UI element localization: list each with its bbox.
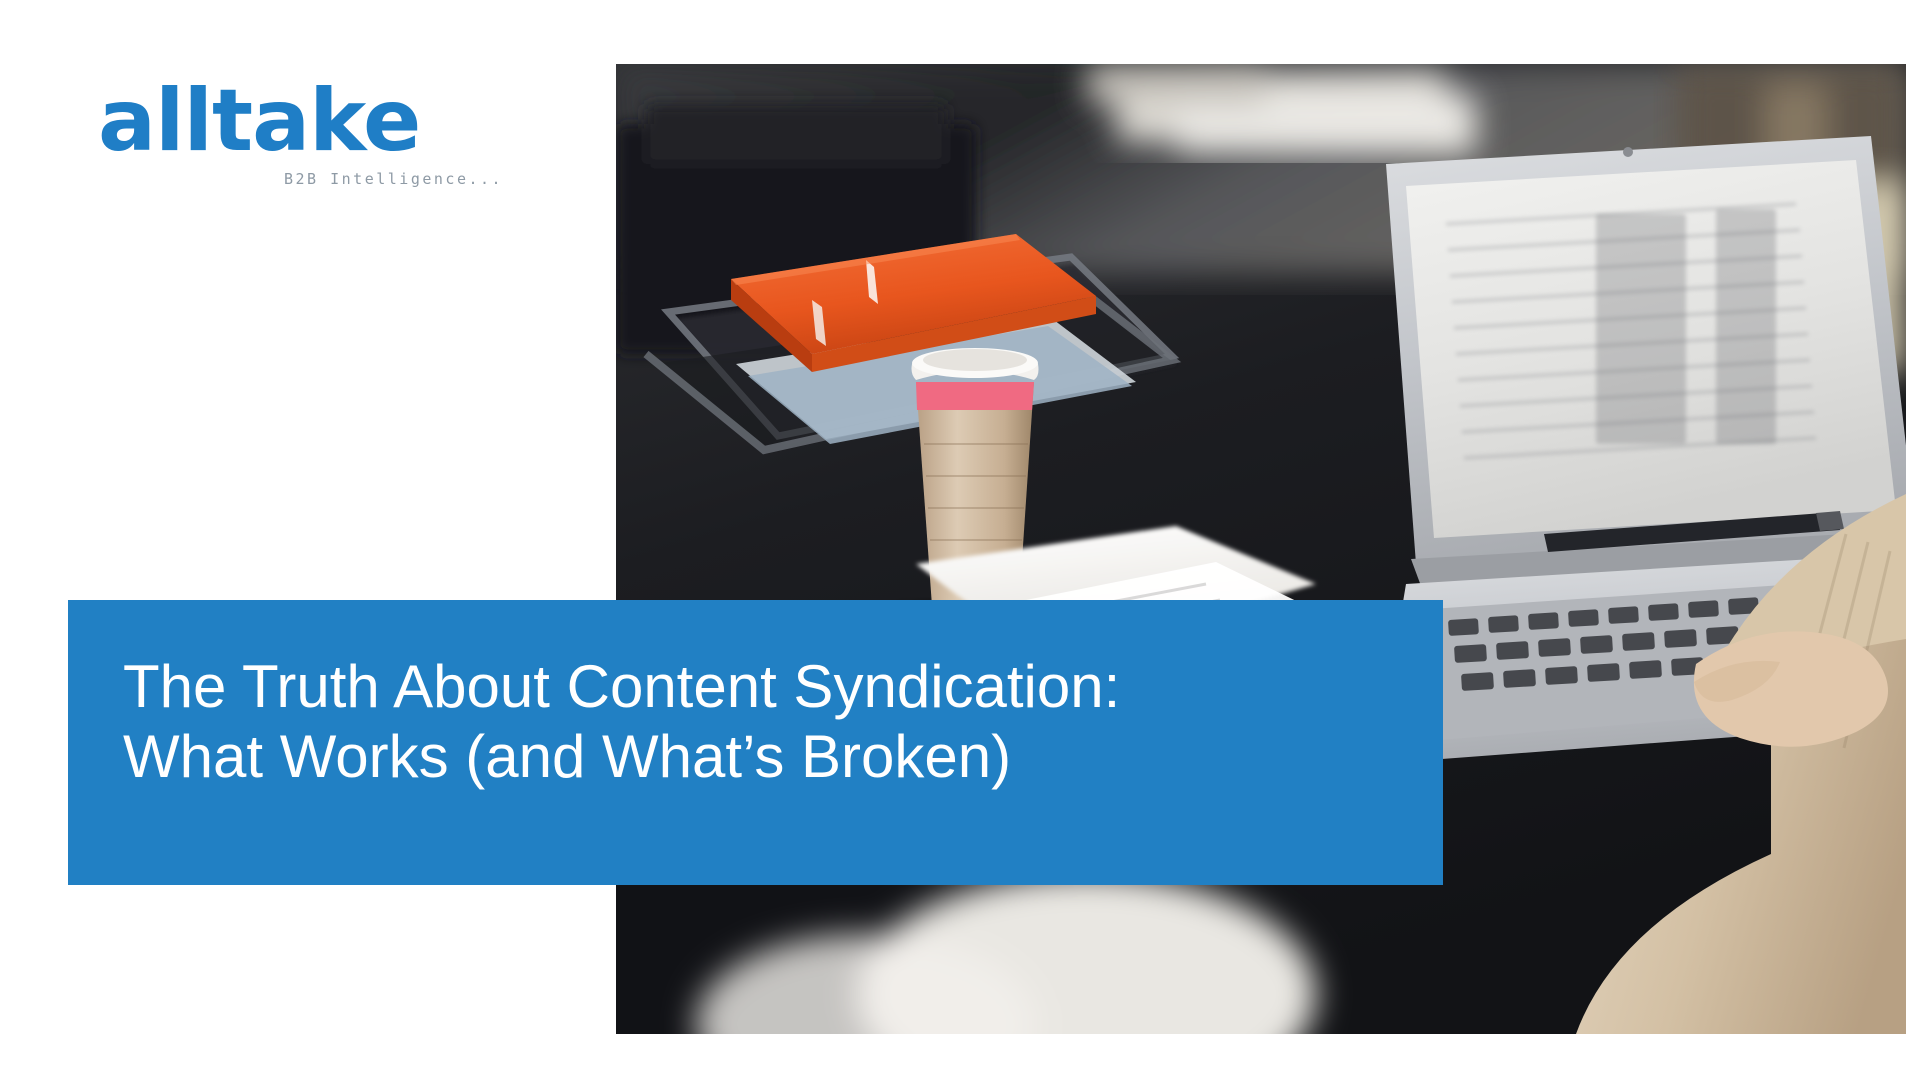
brand-logo[interactable]: alltake B2B Intelligence... (98, 78, 518, 198)
banner-title-line-2: What Works (and What’s Broken) (123, 722, 1383, 792)
banner-title-line-1: The Truth About Content Syndication: (123, 653, 1120, 720)
hero-photo (616, 64, 1906, 1034)
page-canvas: alltake B2B Intelligence... (0, 0, 1920, 1080)
logo-tagline: B2B Intelligence... (284, 170, 503, 188)
hero-photo-illustration (616, 64, 1906, 1034)
title-banner: The Truth About Content Syndication: Wha… (68, 600, 1443, 885)
logo-wordmark: alltake (98, 78, 518, 164)
banner-title: The Truth About Content Syndication: Wha… (123, 652, 1383, 792)
